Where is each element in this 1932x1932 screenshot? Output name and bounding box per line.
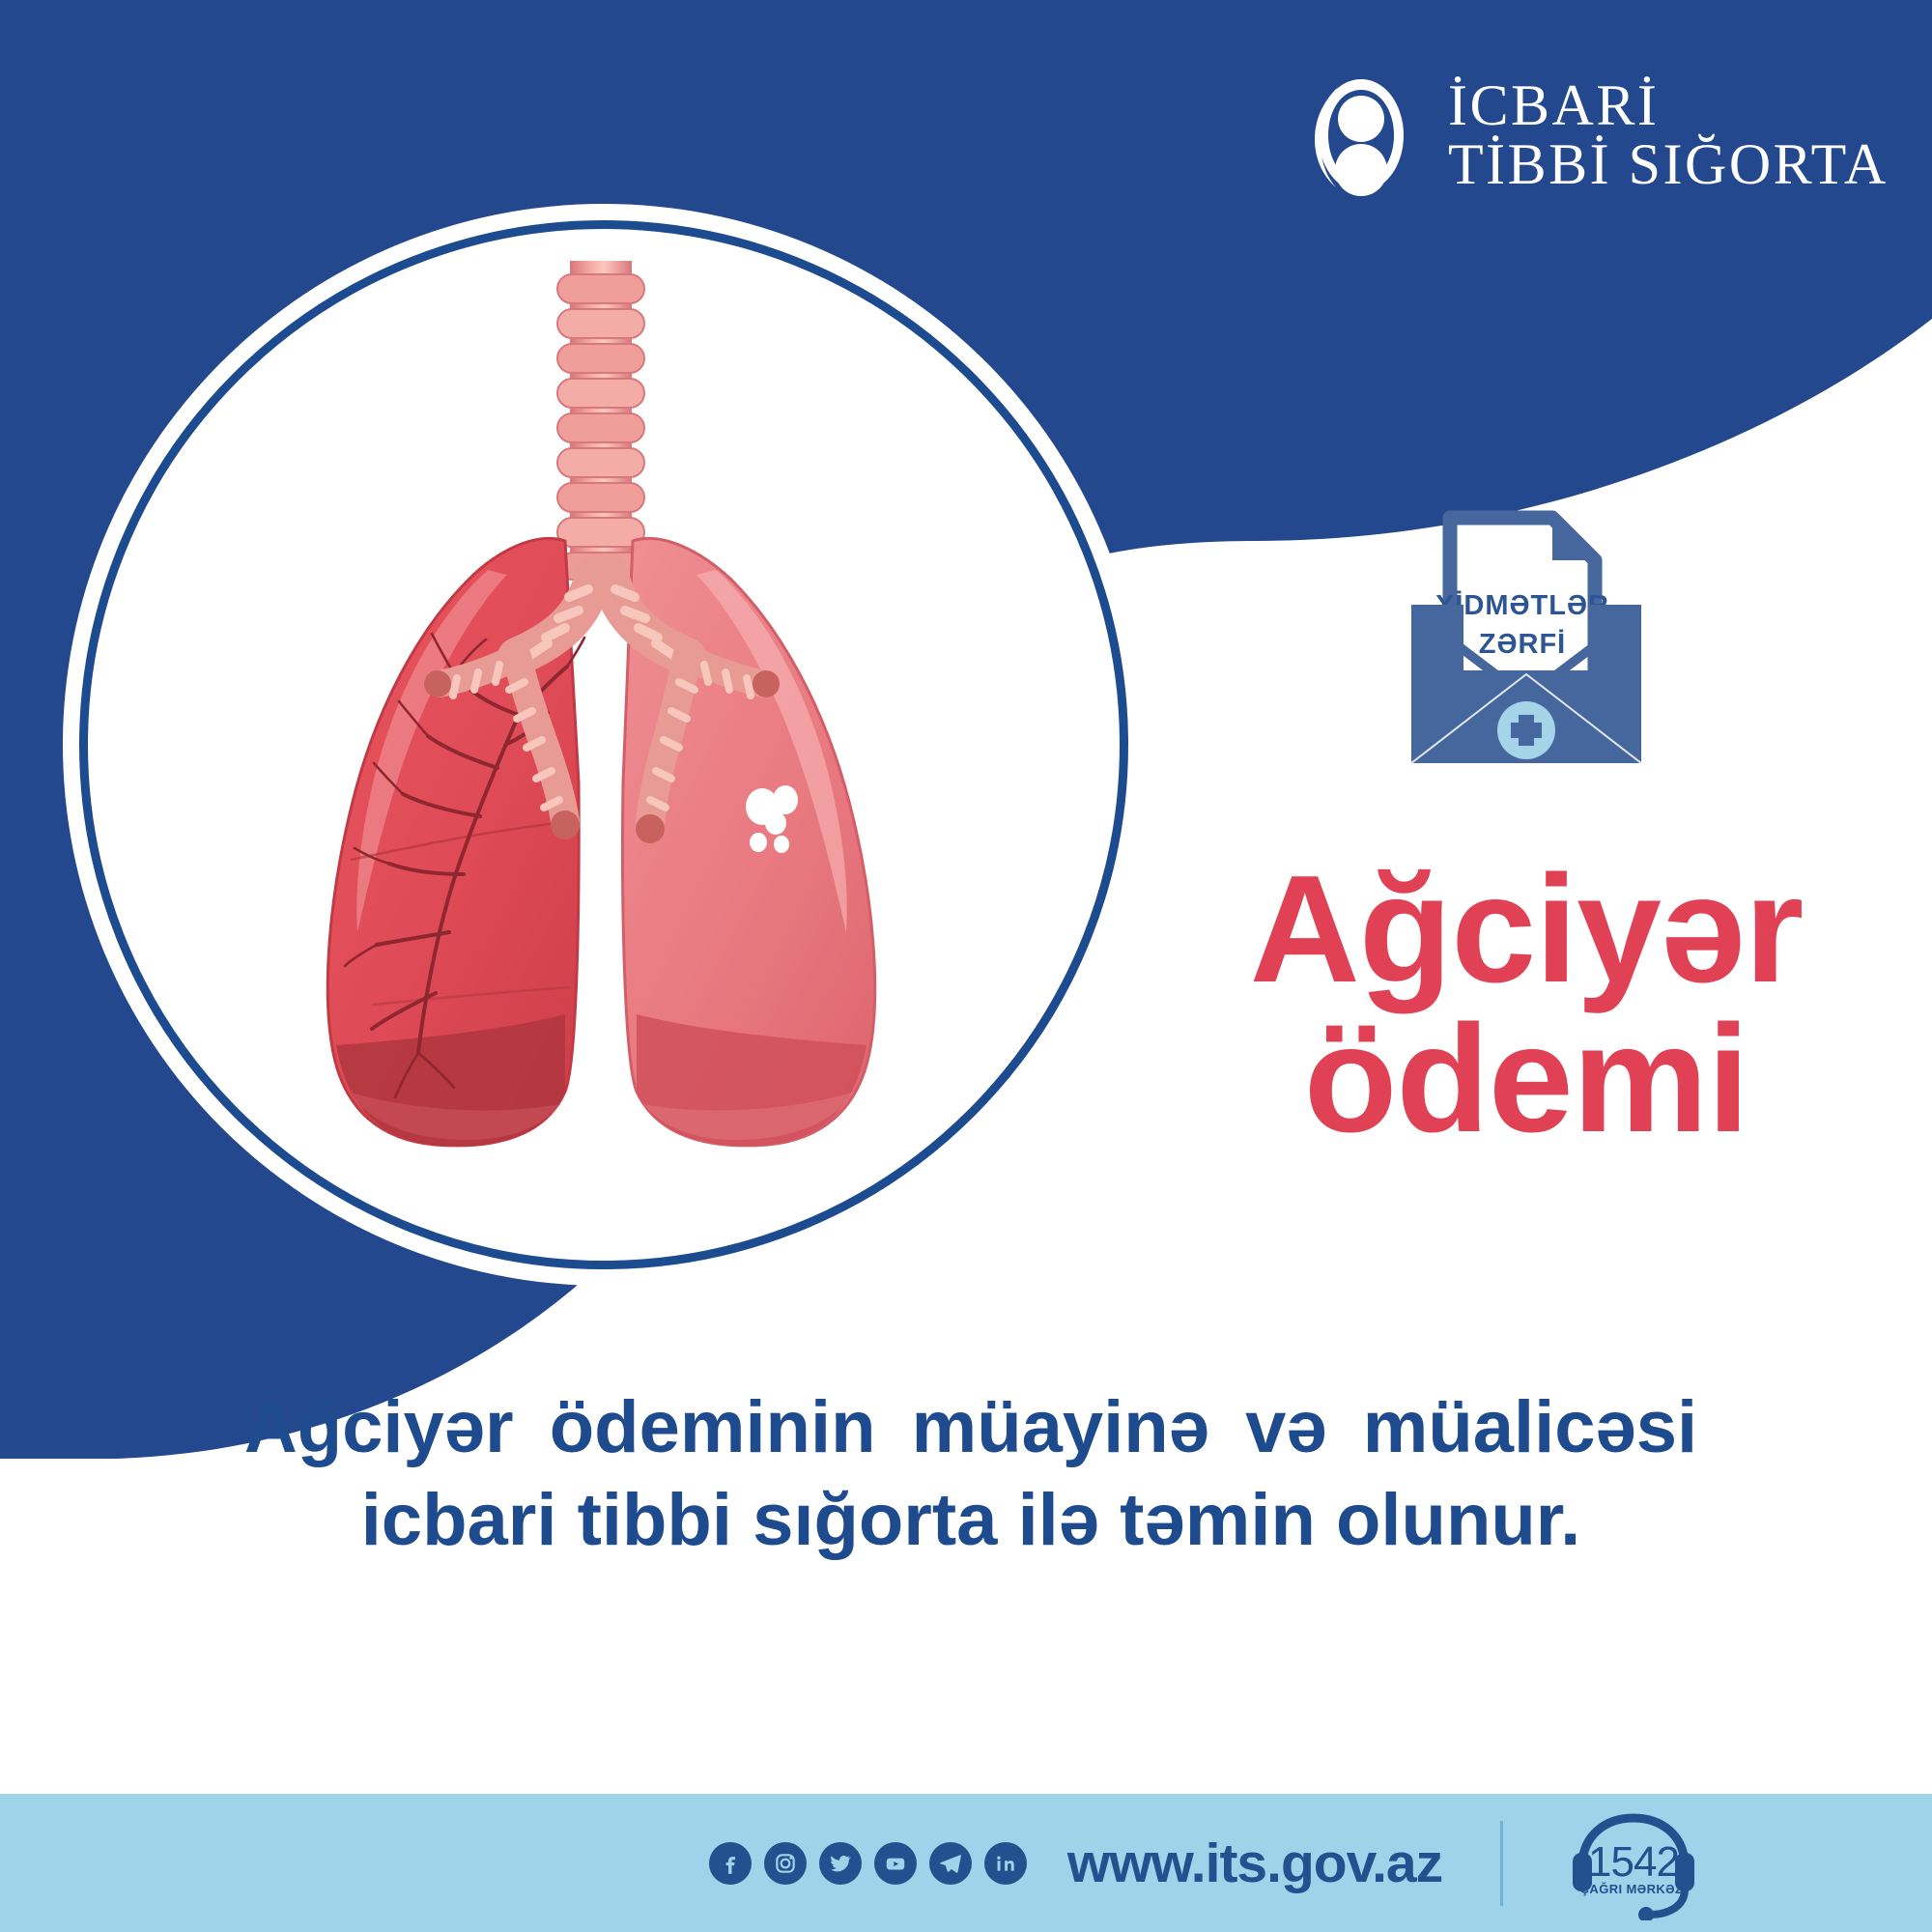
website-url[interactable]: www.its.gov.az bbox=[1067, 1832, 1442, 1895]
instagram-icon[interactable] bbox=[764, 1842, 807, 1885]
footer-bar: www.its.gov.az 1542 ÇAĞRI MƏRKƏZİ bbox=[0, 1794, 1932, 1932]
callcenter-label: ÇAĞRI MƏRKƏZİ bbox=[1580, 1882, 1688, 1896]
callcenter-number: 1542 bbox=[1588, 1838, 1679, 1886]
body-text: Ağciyər ödeminin müayinə və müalicəsi ic… bbox=[106, 1381, 1835, 1567]
youtube-icon[interactable] bbox=[874, 1842, 917, 1885]
footer-divider bbox=[1500, 1821, 1503, 1906]
logo-line-1: İCBARİ bbox=[1448, 76, 1889, 135]
twitter-icon[interactable] bbox=[819, 1842, 862, 1885]
call-center-headset-badge: 1542 ÇAĞRI MƏRKƏZİ bbox=[1561, 1806, 1706, 1920]
envelope-doc-line-2: ZƏRFİ bbox=[1479, 629, 1567, 660]
telegram-icon[interactable] bbox=[929, 1842, 972, 1885]
circle-people-emblem-icon bbox=[1299, 73, 1423, 197]
poster: İCBARİ TİBBİ SIĞORTA XİDMƏTLƏR ZƏRFİ Ağc… bbox=[0, 0, 1932, 1932]
linkedin-icon[interactable] bbox=[984, 1842, 1027, 1885]
body-line-2: icbari tibbi sığorta ilə təmin olunur. bbox=[106, 1474, 1835, 1567]
page-title: Ağciyər ödemi bbox=[1159, 855, 1893, 1154]
brand-logo: İCBARİ TİBBİ SIĞORTA bbox=[1299, 68, 1879, 203]
facebook-icon[interactable] bbox=[709, 1842, 752, 1885]
social-links bbox=[709, 1842, 1027, 1885]
open-envelope-icon: XİDMƏTLƏR ZƏRFİ bbox=[1406, 510, 1647, 771]
title-line-2: ödemi bbox=[1159, 1005, 1893, 1154]
logo-line-2: TİBBİ SIĞORTA bbox=[1448, 135, 1889, 194]
title-line-1: Ağciyər bbox=[1250, 844, 1804, 1014]
body-line-1: Ağciyər ödeminin müayinə və müalicəsi bbox=[106, 1381, 1835, 1474]
lungs-anatomy-illustration bbox=[179, 241, 1029, 1217]
